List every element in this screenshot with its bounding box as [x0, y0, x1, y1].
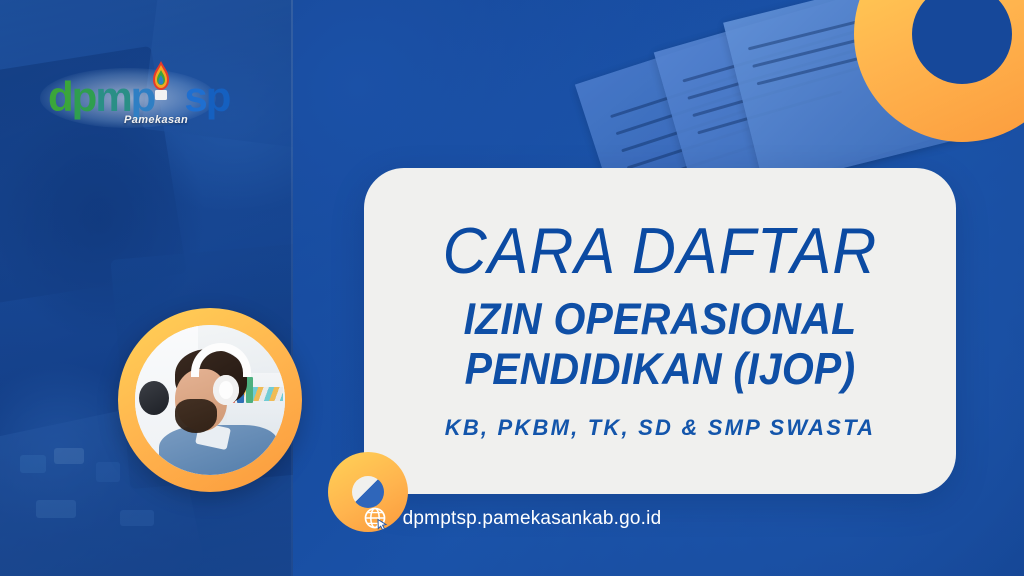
globe-cursor-icon	[363, 506, 389, 532]
website-url[interactable]: dpmptsp.pamekasankab.go.id	[403, 508, 662, 530]
poster-canvas: CARA DAFTAR IZIN OPERASIONAL PENDIDIKAN …	[0, 0, 1024, 576]
audience-line: KB, PKBM, TK, SD & SMP SWASTA	[445, 415, 875, 441]
page-title: CARA DAFTAR	[443, 220, 878, 285]
website-row[interactable]: dpmptsp.pamekasankab.go.id	[0, 506, 1024, 532]
subtitle-line-1: IZIN OPERASIONAL	[464, 297, 857, 343]
dpmptsp-logo: dpmpsp Pamekasan	[48, 62, 208, 134]
portrait-avatar	[118, 308, 302, 492]
content-card: CARA DAFTAR IZIN OPERASIONAL PENDIDIKAN …	[364, 168, 956, 494]
logo-subtitle: Pamekasan	[124, 114, 188, 126]
subtitle-line-2: PENDIDIKAN (IJOP)	[465, 346, 856, 392]
flame-icon	[144, 60, 178, 104]
logo-wordmark: dpmpsp	[48, 76, 229, 118]
